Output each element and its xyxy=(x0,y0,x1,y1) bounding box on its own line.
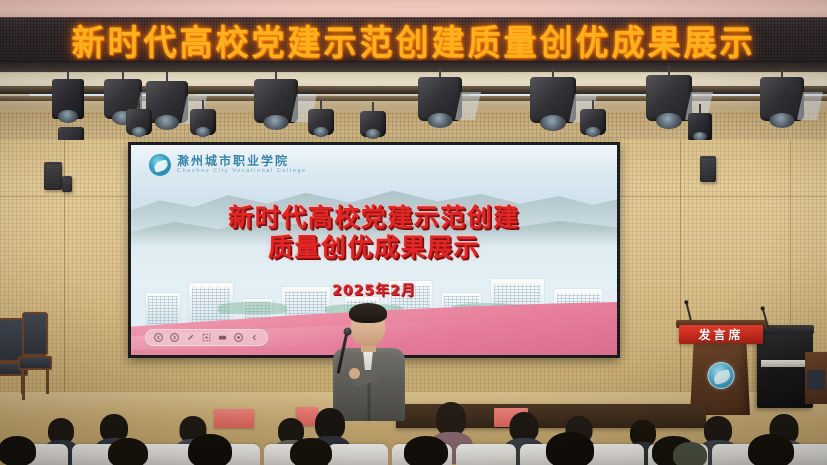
presentation-toolbar[interactable] xyxy=(145,329,268,346)
stage-spotlight xyxy=(418,68,462,130)
stage-spotlight xyxy=(126,100,152,140)
next-slide-icon[interactable] xyxy=(170,333,179,342)
stage-spotlight xyxy=(190,100,216,140)
stage-spotlight xyxy=(646,66,692,130)
slide-logo: 滁州城市职业学院 Chuzhou City Vocational College xyxy=(149,154,307,176)
audience-member xyxy=(184,434,236,465)
previous-slide-icon[interactable] xyxy=(154,333,163,342)
audience-member xyxy=(744,434,798,465)
collapse-toolbar-icon[interactable] xyxy=(250,333,259,342)
presentation-view-icon[interactable] xyxy=(218,333,227,342)
stage-spotlight xyxy=(52,70,84,122)
audience xyxy=(0,398,827,465)
stage-spotlight xyxy=(580,100,606,140)
podium-sign: 发言席 xyxy=(679,325,763,344)
college-emblem-icon xyxy=(149,154,171,176)
audience-seat xyxy=(456,444,516,465)
podium-sign-text: 发言席 xyxy=(698,326,743,343)
stage-spotlight xyxy=(760,68,804,130)
stage-spotlight xyxy=(530,68,576,132)
audience-member xyxy=(286,438,336,465)
podium-college-emblem-icon xyxy=(708,362,735,389)
slide-title-line1: 新时代高校党建示范创建 xyxy=(131,203,617,233)
more-options-icon[interactable] xyxy=(234,333,243,342)
audience-member xyxy=(542,432,598,465)
side-chair xyxy=(18,312,52,394)
pen-annotate-icon[interactable] xyxy=(186,333,195,342)
audience-member xyxy=(670,442,710,465)
slide-title-line2: 质量创优成果展示 xyxy=(131,233,617,263)
audience-seat xyxy=(328,444,388,465)
piano-chair xyxy=(805,352,827,404)
audience-member xyxy=(104,438,152,465)
led-banner: 新时代高校党建示范创建质量创优成果展示 xyxy=(0,17,827,63)
slide-date: 2025年2月 xyxy=(131,280,617,300)
laser-pointer-icon[interactable] xyxy=(202,333,211,342)
slide-greenery xyxy=(218,302,286,314)
wall-speaker xyxy=(62,176,72,192)
stage-spotlight xyxy=(146,72,188,132)
led-banner-text: 新时代高校党建示范创建质量创优成果展示 xyxy=(72,17,756,63)
college-name-en: Chuzhou City Vocational College xyxy=(177,168,307,175)
piano-keys xyxy=(761,360,809,367)
audience-member xyxy=(0,436,40,465)
slide-title: 新时代高校党建示范创建 质量创优成果展示 xyxy=(131,203,617,262)
stage-spotlight xyxy=(688,104,712,142)
stage-spotlight xyxy=(360,102,386,142)
audience-member xyxy=(400,436,452,465)
wall-speaker xyxy=(44,162,62,190)
college-name-cn: 滁州城市职业学院 xyxy=(177,155,307,168)
stage-spotlight xyxy=(254,70,298,132)
auditorium-scene: 新时代高校党建示范创建质量创优成果展示 xyxy=(0,0,827,465)
wall-speaker xyxy=(700,156,716,182)
